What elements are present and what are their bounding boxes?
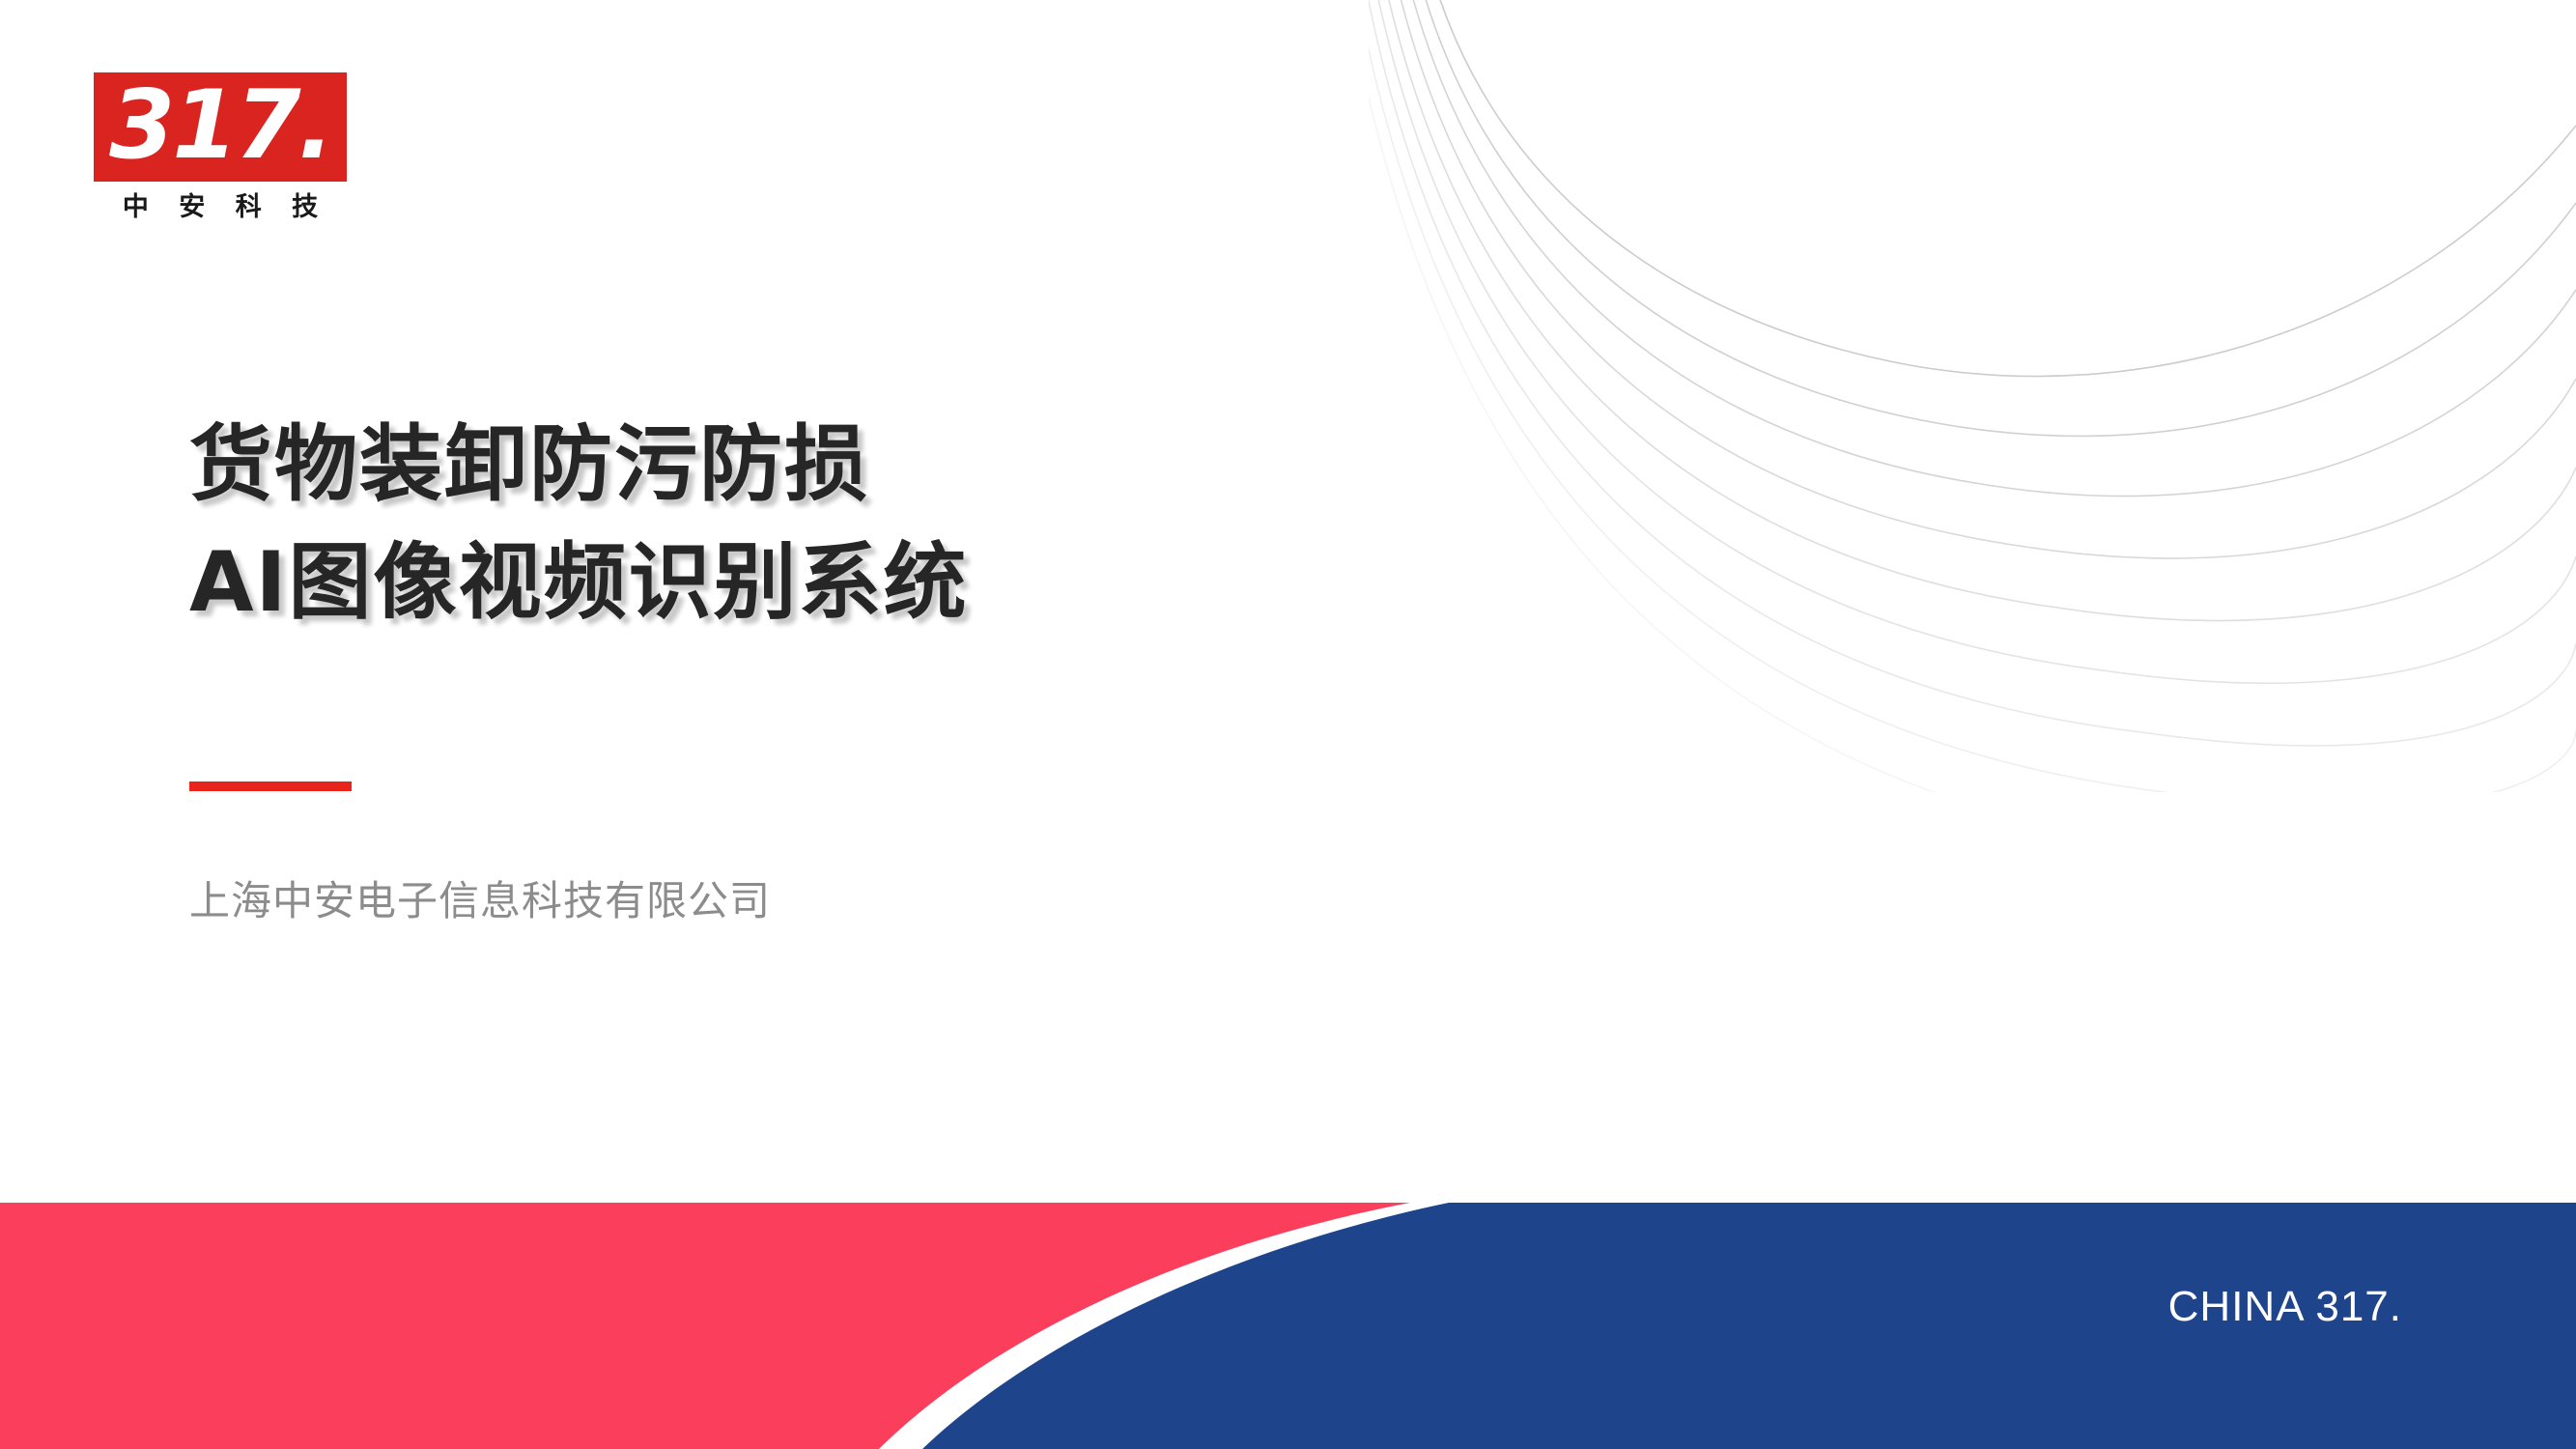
company-logo: 317. 中 安 科 技 [94, 72, 347, 220]
logo-mark-text: 317. [94, 78, 347, 173]
company-name-subtitle: 上海中安电子信息科技有限公司 [189, 877, 771, 925]
page-title-line-1: 货物装卸防污防损 [189, 406, 1397, 524]
banner-brand-label: CHINA 317. [2168, 1286, 2402, 1328]
page-title-line-2: AI图像视频识别系统 [189, 524, 1397, 641]
bottom-banner: CHINA 317. [0, 1203, 2576, 1449]
logo-mark: 317. [94, 72, 347, 182]
slide-canvas: 317. 中 安 科 技 货物装卸防污防损 AI图像视频识别系统 上海中安电子信… [0, 0, 2576, 1449]
decorative-curve-fan [1369, 0, 2576, 792]
title-divider-rule [189, 781, 352, 791]
logo-company-short: 中 安 科 技 [94, 194, 347, 220]
page-title: 货物装卸防污防损 AI图像视频识别系统 [189, 406, 1397, 641]
